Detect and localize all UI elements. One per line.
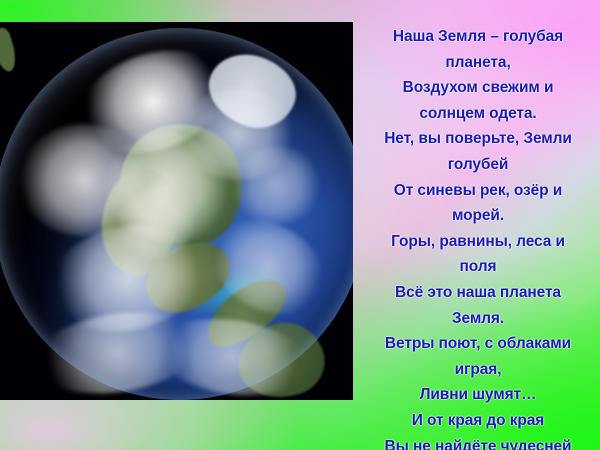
atmosphere-inner-glow bbox=[0, 28, 353, 400]
poem-line: И от края до края bbox=[356, 408, 600, 434]
earth-photo-panel bbox=[0, 22, 353, 400]
poem-line: Наша Земля – голубая bbox=[356, 24, 600, 50]
poem-line: планета, bbox=[356, 50, 600, 76]
poem-line: От синевы рек, озёр и bbox=[356, 178, 600, 204]
poem-line: морей. bbox=[356, 203, 600, 229]
poem-line: поля bbox=[356, 254, 600, 280]
slide-canvas: Наша Земля – голубая планета, Воздухом с… bbox=[0, 0, 600, 450]
poem-line: Вы не найдёте чудесней bbox=[356, 434, 600, 450]
globe-sphere bbox=[0, 28, 353, 400]
poem-line: Ветры поют, с облаками bbox=[356, 331, 600, 357]
poem-line: Горы, равнины, леса и bbox=[356, 229, 600, 255]
poem-line: Нет, вы поверьте, Земли bbox=[356, 126, 600, 152]
poem-line: солнцем одета. bbox=[356, 101, 600, 127]
poem-text-block: Наша Земля – голубая планета, Воздухом с… bbox=[356, 24, 600, 450]
poem-line: голубей bbox=[356, 152, 600, 178]
poem-line: Ливни шумят… bbox=[356, 382, 600, 408]
earth-globe-image bbox=[0, 28, 353, 400]
landmass-florida bbox=[0, 26, 20, 74]
poem-line: играя, bbox=[356, 357, 600, 383]
poem-line: Воздухом свежим и bbox=[356, 75, 600, 101]
poem-line: Земля. bbox=[356, 306, 600, 332]
poem-line: Всё это наша планета bbox=[356, 280, 600, 306]
